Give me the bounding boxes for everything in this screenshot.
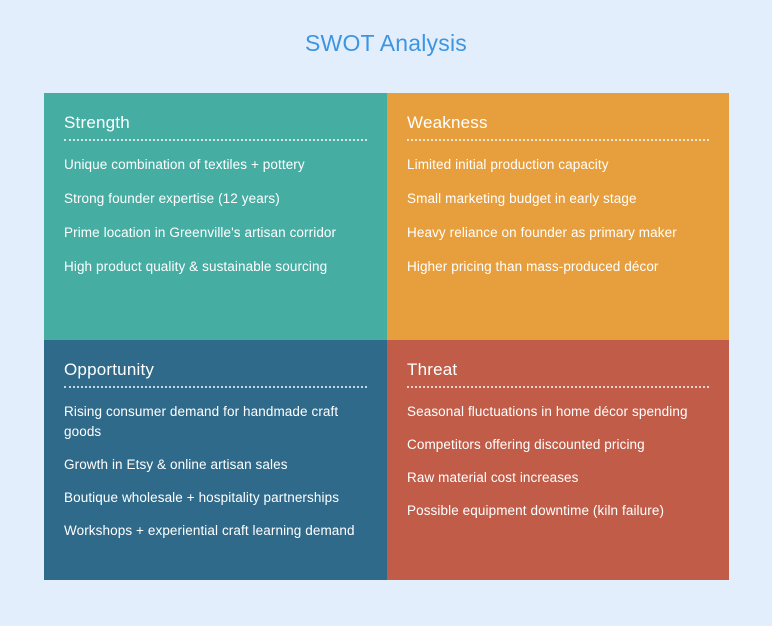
list-item: Heavy reliance on founder as primary mak… bbox=[407, 223, 709, 243]
page-title: SWOT Analysis bbox=[0, 30, 772, 57]
swot-analysis-page: SWOT Analysis Strength Unique combinatio… bbox=[0, 0, 772, 626]
quadrant-weakness: Weakness Limited initial production capa… bbox=[387, 93, 729, 340]
list-item: Boutique wholesale + hospitality partner… bbox=[64, 488, 367, 508]
list-item: Competitors offering discounted pricing bbox=[407, 435, 709, 455]
quadrant-opportunity-divider bbox=[64, 386, 367, 388]
list-item: Small marketing budget in early stage bbox=[407, 189, 709, 209]
list-item: Raw material cost increases bbox=[407, 468, 709, 488]
quadrant-opportunity-list: Rising consumer demand for handmade craf… bbox=[64, 402, 367, 541]
list-item: Prime location in Greenville's artisan c… bbox=[64, 223, 367, 243]
quadrant-strength-divider bbox=[64, 139, 367, 141]
quadrant-threat-header: Threat bbox=[407, 360, 709, 380]
quadrant-weakness-header: Weakness bbox=[407, 113, 709, 133]
swot-matrix: Strength Unique combination of textiles … bbox=[44, 93, 729, 580]
quadrant-strength-header: Strength bbox=[64, 113, 367, 133]
quadrant-strength: Strength Unique combination of textiles … bbox=[44, 93, 387, 340]
list-item: Higher pricing than mass-produced décor bbox=[407, 257, 709, 277]
list-item: Possible equipment downtime (kiln failur… bbox=[407, 501, 709, 521]
quadrant-opportunity-header: Opportunity bbox=[64, 360, 367, 380]
list-item: Seasonal fluctuations in home décor spen… bbox=[407, 402, 709, 422]
quadrant-opportunity: Opportunity Rising consumer demand for h… bbox=[44, 340, 387, 580]
quadrant-threat-divider bbox=[407, 386, 709, 388]
quadrant-strength-list: Unique combination of textiles + pottery… bbox=[64, 155, 367, 277]
list-item: Growth in Etsy & online artisan sales bbox=[64, 455, 367, 475]
quadrant-weakness-list: Limited initial production capacity Smal… bbox=[407, 155, 709, 277]
list-item: High product quality & sustainable sourc… bbox=[64, 257, 367, 277]
list-item: Limited initial production capacity bbox=[407, 155, 709, 175]
list-item: Workshops + experiential craft learning … bbox=[64, 521, 367, 541]
quadrant-threat-list: Seasonal fluctuations in home décor spen… bbox=[407, 402, 709, 521]
list-item: Rising consumer demand for handmade craf… bbox=[64, 402, 367, 442]
quadrant-weakness-divider bbox=[407, 139, 709, 141]
list-item: Unique combination of textiles + pottery bbox=[64, 155, 367, 175]
quadrant-threat: Threat Seasonal fluctuations in home déc… bbox=[387, 340, 729, 580]
list-item: Strong founder expertise (12 years) bbox=[64, 189, 367, 209]
